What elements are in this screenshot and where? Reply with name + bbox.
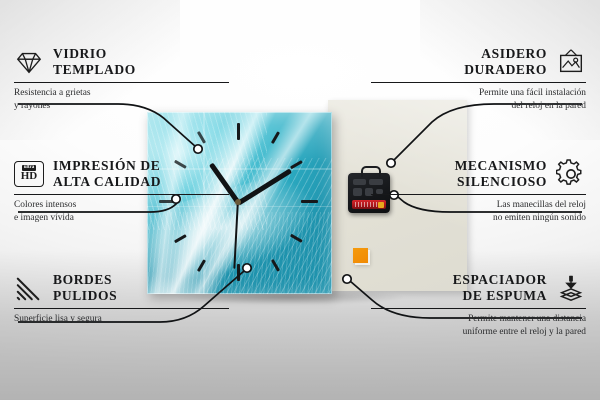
diamond-icon xyxy=(14,47,44,77)
feature-title-line1: IMPRESIÓN DE xyxy=(53,158,160,173)
feature-bordes-pulidos: BORDES PULIDOS Superficie lisa y segura xyxy=(14,272,229,326)
feature-desc-line2: y rayones xyxy=(14,101,50,111)
feature-title-line1: ASIDERO xyxy=(481,46,547,61)
feature-desc-line1: Resistencia a grietas xyxy=(14,88,91,98)
feature-title-line2: ALTA CALIDAD xyxy=(53,174,161,189)
feature-divider xyxy=(371,194,586,195)
feature-title-line1: MECANISMO xyxy=(455,158,547,173)
feature-title-line1: BORDES xyxy=(53,272,112,287)
foam-spacer xyxy=(353,248,368,263)
feature-divider xyxy=(14,194,229,195)
feature-impresion-alta-calidad: ultra HD IMPRESIÓN DE ALTA CALIDAD Color… xyxy=(14,158,229,225)
feature-title-line2: DURADERO xyxy=(464,62,547,77)
feature-desc-line1: Superficie lisa y segura xyxy=(14,314,102,324)
feature-desc-line2: no emiten ningún sonido xyxy=(493,213,586,223)
feature-divider xyxy=(14,82,229,83)
polished-edges-icon xyxy=(14,273,44,303)
feature-desc-line2: e imagen vívida xyxy=(14,213,74,223)
feature-title-line1: VIDRIO xyxy=(53,46,107,61)
feature-title-line2: TEMPLADO xyxy=(53,62,136,77)
feature-title-line1: ESPACIADOR xyxy=(453,272,547,287)
feature-divider xyxy=(371,82,586,83)
feature-desc-line1: Colores intensos xyxy=(14,200,76,210)
ultra-hd-large-label: HD xyxy=(21,171,38,182)
feature-vidrio-templado: VIDRIO TEMPLADO Resistencia a grietas y … xyxy=(14,46,229,113)
feature-desc-line1: Permite mantener una distancia xyxy=(468,314,586,324)
feature-desc-line1: Permite una fácil instalación xyxy=(479,88,586,98)
movement-detail xyxy=(353,188,362,196)
ultra-hd-icon: ultra HD xyxy=(14,161,44,187)
feature-desc-line1: Las manecillas del reloj xyxy=(497,200,586,210)
feature-title-line2: SILENCIOSO xyxy=(457,174,547,189)
gear-icon xyxy=(556,159,586,189)
feature-title-line2: PULIDOS xyxy=(53,288,117,303)
feature-desc-line2: del reloj en la pared xyxy=(512,101,586,111)
feature-desc-line2: uniforme entre el reloj y la pared xyxy=(463,327,586,337)
feature-asidero-duradero: ASIDERO DURADERO Permite una fácil insta… xyxy=(371,46,586,113)
feature-espaciador-de-espuma: ESPACIADOR DE ESPUMA Permite mantener un… xyxy=(371,272,586,339)
product-infographic: VIDRIO TEMPLADO Resistencia a grietas y … xyxy=(0,0,600,400)
feature-mecanismo-silencioso: MECANISMO SILENCIOSO Las manecillas del … xyxy=(371,158,586,225)
wall-hanger-icon xyxy=(556,47,586,77)
feature-divider xyxy=(14,308,229,309)
foam-spacer-icon xyxy=(556,273,586,303)
feature-divider xyxy=(371,308,586,309)
movement-detail xyxy=(353,179,366,185)
feature-title-line2: DE ESPUMA xyxy=(462,288,547,303)
